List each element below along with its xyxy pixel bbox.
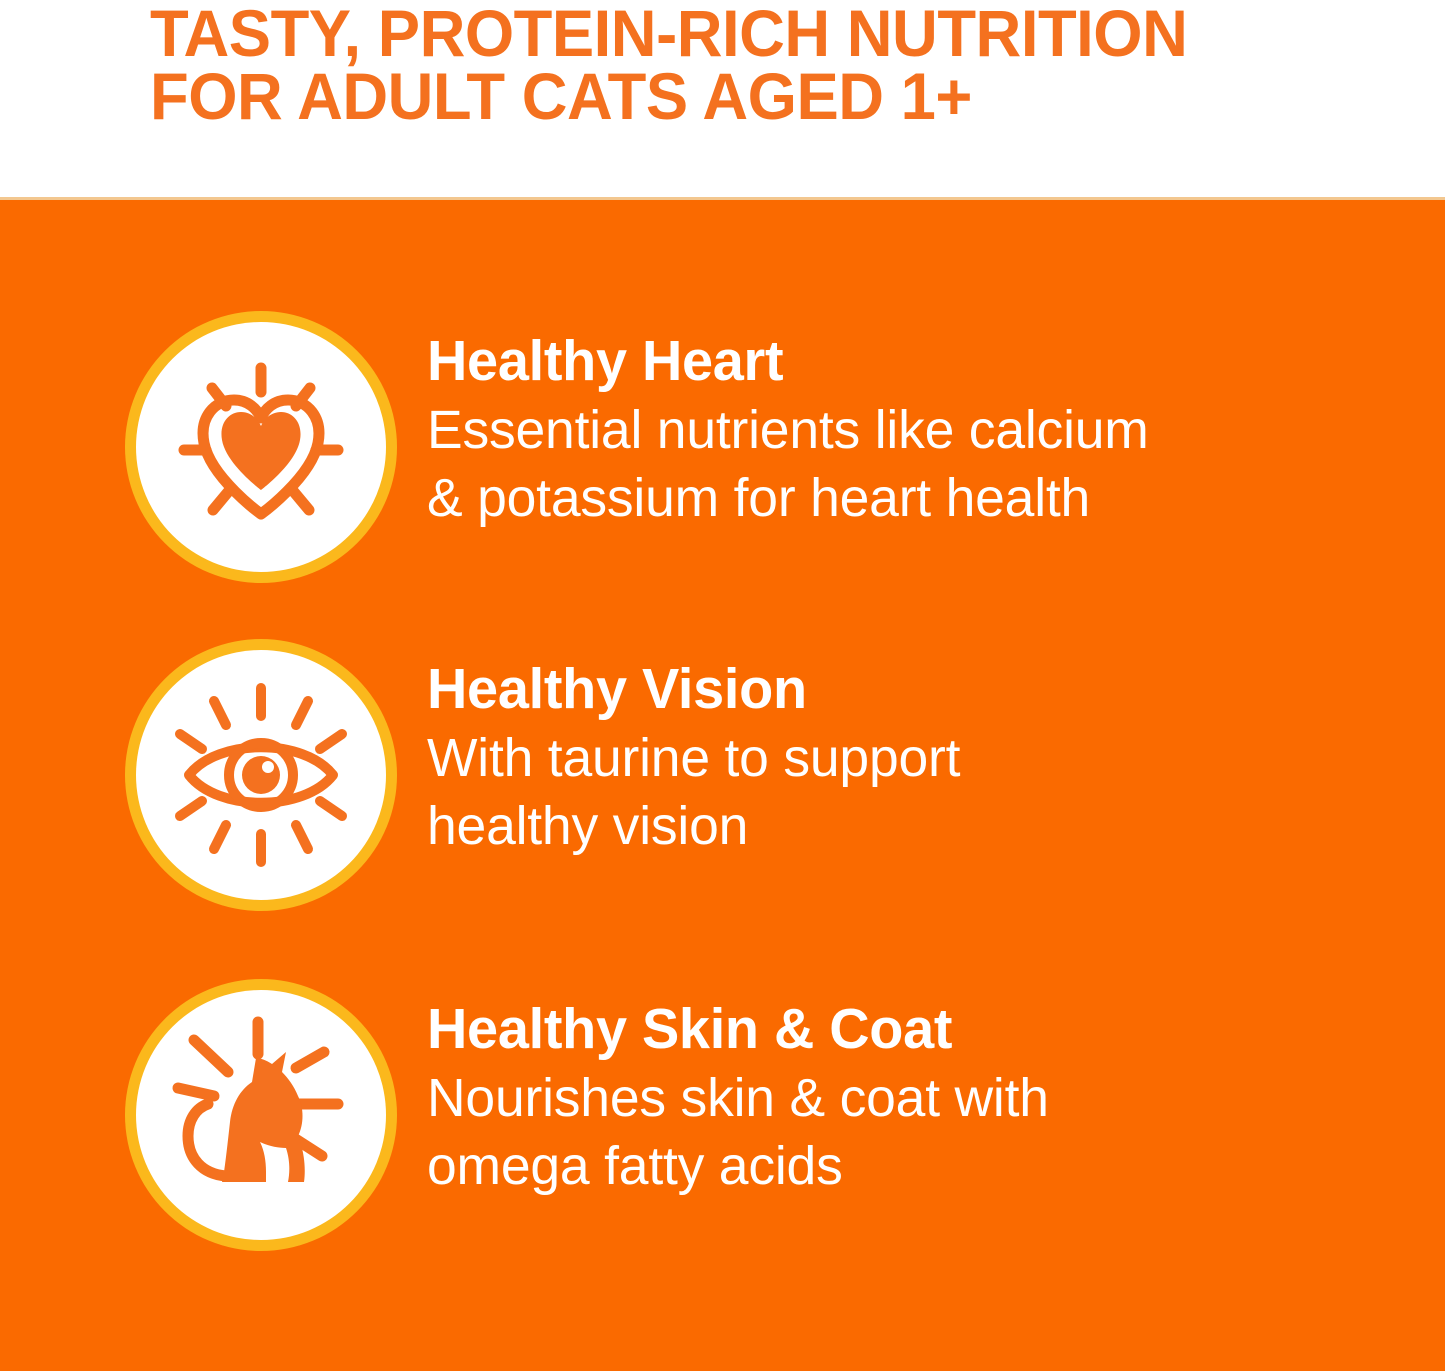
benefit-icon-badge	[136, 990, 386, 1240]
benefit-icon-badge	[136, 650, 386, 900]
eye-rays-icon	[156, 670, 366, 880]
benefit-title: Healthy Skin & Coat	[427, 998, 1309, 1060]
benefit-description: With taurine to support healthy vision	[427, 724, 1318, 860]
heart-fill	[221, 412, 300, 490]
benefit-text-block: Healthy Vision With taurine to support h…	[427, 658, 1327, 860]
eye-highlight	[262, 761, 274, 773]
benefit-title: Healthy Heart	[427, 330, 1309, 392]
benefit-text-block: Healthy Skin & Coat Nourishes skin & coa…	[427, 998, 1327, 1200]
page-headline: TASTY, PROTEIN-RICH NUTRITION FOR ADULT …	[150, 2, 1369, 128]
benefits-panel: Healthy Heart Essential nutrients like c…	[0, 200, 1445, 1371]
benefit-title: Healthy Vision	[427, 658, 1309, 720]
infographic-page: TASTY, PROTEIN-RICH NUTRITION FOR ADULT …	[0, 0, 1445, 1371]
benefit-description: Essential nutrients like calcium & potas…	[427, 396, 1318, 532]
cat-rays-icon	[156, 1010, 366, 1220]
eye-pupil	[242, 756, 280, 794]
heart-rays-icon	[156, 342, 366, 552]
header-band: TASTY, PROTEIN-RICH NUTRITION FOR ADULT …	[0, 0, 1445, 200]
benefit-text-block: Healthy Heart Essential nutrients like c…	[427, 330, 1327, 532]
cat-tail	[188, 1104, 226, 1176]
benefit-description: Nourishes skin & coat with omega fatty a…	[427, 1064, 1318, 1200]
benefit-icon-badge	[136, 322, 386, 572]
